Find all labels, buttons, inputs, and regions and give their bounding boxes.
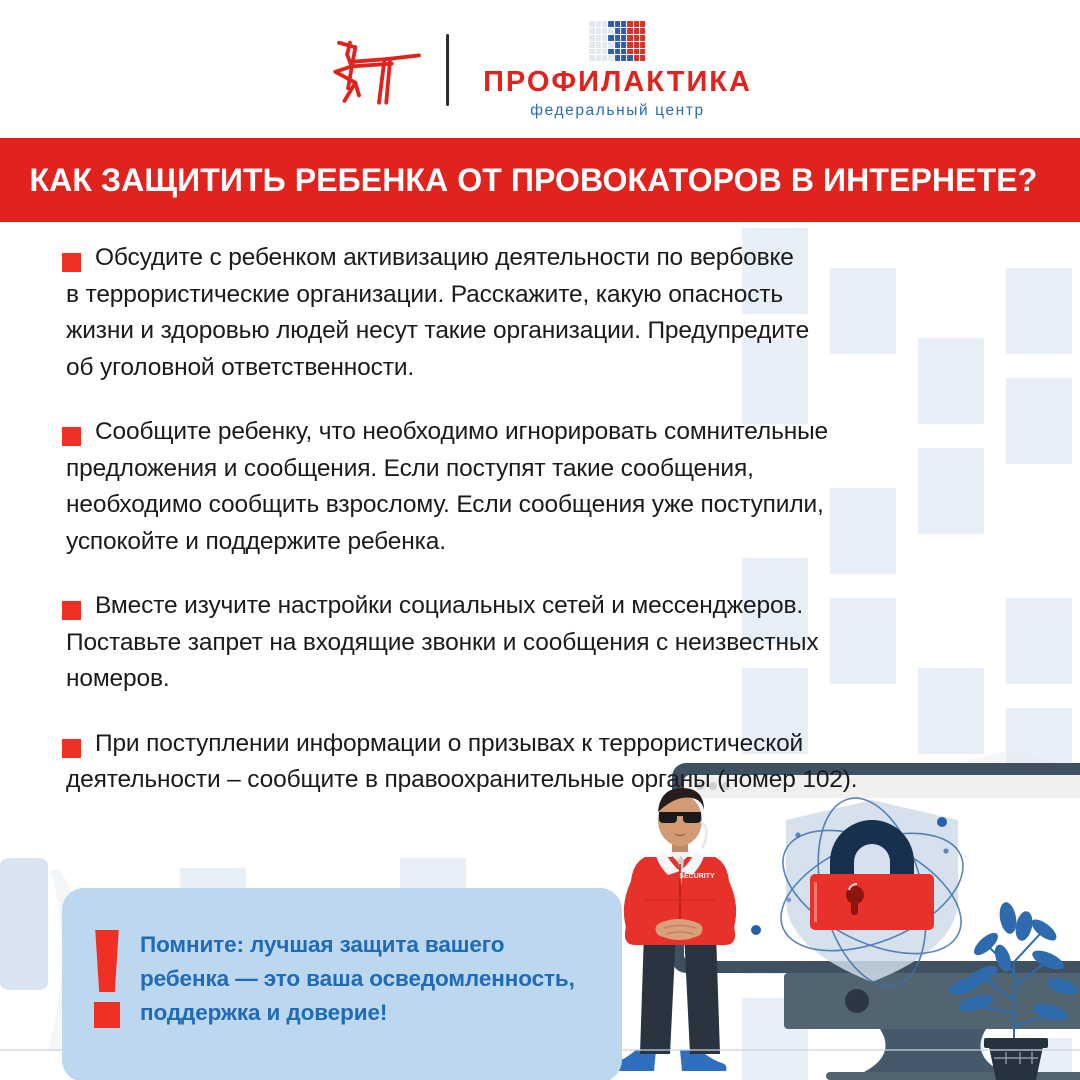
logo-divider (446, 34, 449, 106)
advice-item: Вместе изучите настройки социальных сете… (0, 588, 1010, 698)
advice-text: При поступлении информации о призывах к … (95, 726, 1010, 799)
red-square-bullet-icon (62, 427, 81, 446)
advice-list: Обсудите с ребенком активизацию деятельн… (0, 240, 1010, 827)
advice-line: номеров. (66, 661, 1010, 698)
advice-text: Вместе изучите настройки социальных сете… (95, 588, 1010, 698)
poster-root: SECURITY (0, 0, 1080, 1080)
advice-line: в террористические организации. Расскажи… (66, 277, 1010, 314)
brand-block: ПРОФИЛАКТИКА федеральный центр (483, 21, 752, 119)
header: ПРОФИЛАКТИКА федеральный центр (0, 0, 1080, 138)
exclamation-mark-icon (90, 930, 124, 1028)
advice-line: предложения и сообщения. Если поступят т… (66, 451, 1010, 488)
background-square (1006, 598, 1072, 684)
background-square (1006, 378, 1072, 464)
advice-line: об уголовной ответственности. (66, 350, 1010, 387)
reminder-line: ребенка — это ваша осведомленность, (140, 962, 610, 996)
advice-line: При поступлении информации о призывах к … (95, 726, 1010, 763)
advice-item: Обсудите с ребенком активизацию деятельн… (0, 240, 1010, 386)
red-square-bullet-icon (62, 601, 81, 620)
logo-row: ПРОФИЛАКТИКА федеральный центр (328, 20, 752, 120)
advice-line: Поставьте запрет на входящие звонки и со… (66, 625, 1010, 662)
advice-line: успокойте и поддержите ребенка. (66, 524, 1010, 561)
advice-line: деятельности – сообщите в правоохранител… (66, 762, 1010, 799)
advice-text: Обсудите с ребенком активизацию деятельн… (95, 240, 1010, 386)
advice-item: При поступлении информации о призывах к … (0, 726, 1010, 799)
brand-subtitle: федеральный центр (530, 103, 705, 119)
red-square-bullet-icon (62, 739, 81, 758)
pixel-grid-logo-icon (590, 21, 646, 61)
advice-line: Обсудите с ребенком активизацию деятельн… (95, 240, 1010, 277)
brand-name: ПРОФИЛАКТИКА (483, 68, 752, 97)
reminder-callout: Помните: лучшая защита вашегоребенка — э… (62, 888, 622, 1080)
title-banner: КАК ЗАЩИТИТЬ РЕБЕНКА ОТ ПРОВОКАТОРОВ В И… (0, 138, 1080, 222)
advice-line: необходимо сообщить взрослому. Если сооб… (66, 487, 1010, 524)
reminder-text: Помните: лучшая защита вашегоребенка — э… (140, 928, 610, 1030)
advice-line: Сообщите ребенку, что необходимо игнорир… (95, 414, 1010, 451)
background-square (1006, 268, 1072, 354)
advice-line: жизни и здоровью людей несут такие орган… (66, 313, 1010, 350)
red-square-bullet-icon (62, 253, 81, 272)
advice-item: Сообщите ребенку, что необходимо игнорир… (0, 414, 1010, 560)
dog-stick-figure-icon (328, 28, 428, 112)
svg-text:SECURITY: SECURITY (679, 873, 715, 880)
page-title: КАК ЗАЩИТИТЬ РЕБЕНКА ОТ ПРОВОКАТОРОВ В И… (0, 164, 1037, 197)
reminder-line: поддержка и доверие! (140, 996, 610, 1030)
advice-text: Сообщите ребенку, что необходимо игнорир… (95, 414, 1010, 560)
advice-line: Вместе изучите настройки социальных сете… (95, 588, 1010, 625)
reminder-line: Помните: лучшая защита вашего (140, 928, 610, 962)
